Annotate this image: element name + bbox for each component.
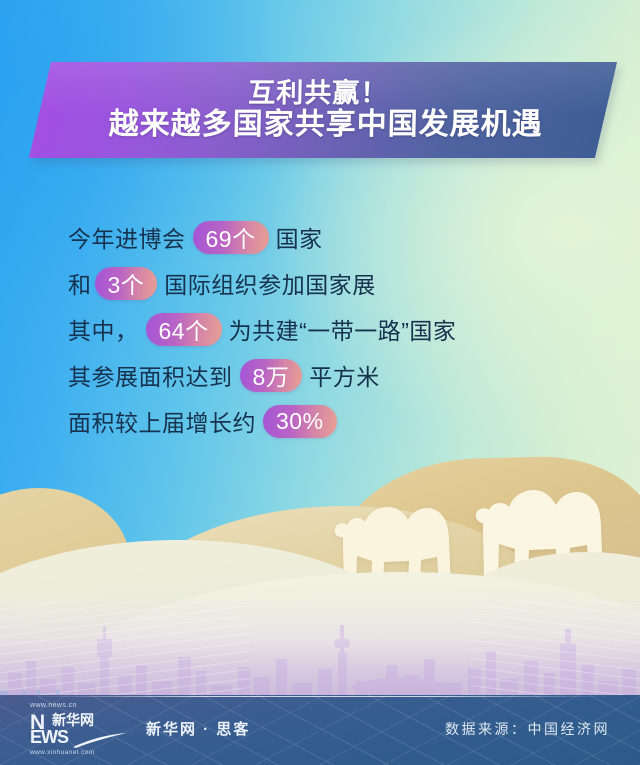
stat-line-3: 其中， 64个 为共建“一带一路”国家 [68, 306, 588, 352]
stat-line-1-suffix: 国家 [276, 220, 323, 254]
stat-pill-organizations-count: 3个 [95, 267, 158, 300]
stat-line-1: 今年进博会 69个 国家 [68, 214, 588, 260]
stat-line-5-prefix: 面积较上届增长约 [68, 404, 256, 438]
banner-text-group: 互利共赢！ 越来越多国家共享中国发展机遇 [0, 62, 640, 158]
title-line-2: 越来越多国家共享中国发展机遇 [103, 109, 544, 141]
logo-url-bottom: www.xinhuanet.com [30, 749, 132, 756]
logo-chinese-name: 新华网 [52, 713, 94, 728]
stat-line-2-prefix: 和 [68, 266, 92, 300]
stat-line-3-suffix: 为共建“一带一路”国家 [229, 312, 457, 346]
title-line-1: 互利共赢！ [243, 79, 390, 107]
stat-line-2: 和 3个 国际组织参加国家展 [68, 260, 588, 306]
stat-pill-exhibition-area: 8万 [240, 359, 303, 392]
stat-line-1-prefix: 今年进博会 [68, 220, 186, 254]
city-haze-overlay [0, 595, 640, 705]
stat-line-4-prefix: 其参展面积达到 [68, 358, 233, 392]
footer-data-source: 数据来源：中国经济网 [445, 719, 610, 739]
infographic-poster: 互利共赢！ 越来越多国家共享中国发展机遇 今年进博会 69个 国家 和 3个 国… [0, 0, 640, 765]
title-banner: 互利共赢！ 越来越多国家共享中国发展机遇 [0, 62, 640, 166]
stat-line-4: 其参展面积达到 8万 平方米 [68, 352, 588, 398]
logo-swoosh-icon [72, 732, 128, 748]
stat-pill-growth-percent: 30% [263, 405, 337, 438]
stat-pill-bri-countries-count: 64个 [146, 313, 222, 346]
xinhua-logo[interactable]: www.news.cn N EWS 新华网 www.xinhuanet.com [28, 702, 132, 758]
city-skyline-illustration [0, 595, 640, 705]
stat-pill-countries-count: 69个 [193, 221, 269, 254]
stat-line-4-suffix: 平方米 [309, 358, 380, 392]
logo-mark: N EWS 新华网 [30, 711, 130, 748]
statistics-text-block: 今年进博会 69个 国家 和 3个 国际组织参加国家展 其中， 64个 为共建“… [68, 214, 588, 444]
footer-divider-rule [30, 696, 610, 697]
logo-url-top: www.news.cn [30, 702, 132, 709]
logo-word-news: EWS [30, 728, 68, 746]
stat-line-2-suffix: 国际组织参加国家展 [164, 266, 376, 300]
stat-line-5: 面积较上届增长约 30% [68, 398, 588, 444]
stat-line-3-prefix: 其中， [68, 312, 139, 346]
footer-brand-label: 新华网 · 思客 [146, 718, 250, 739]
